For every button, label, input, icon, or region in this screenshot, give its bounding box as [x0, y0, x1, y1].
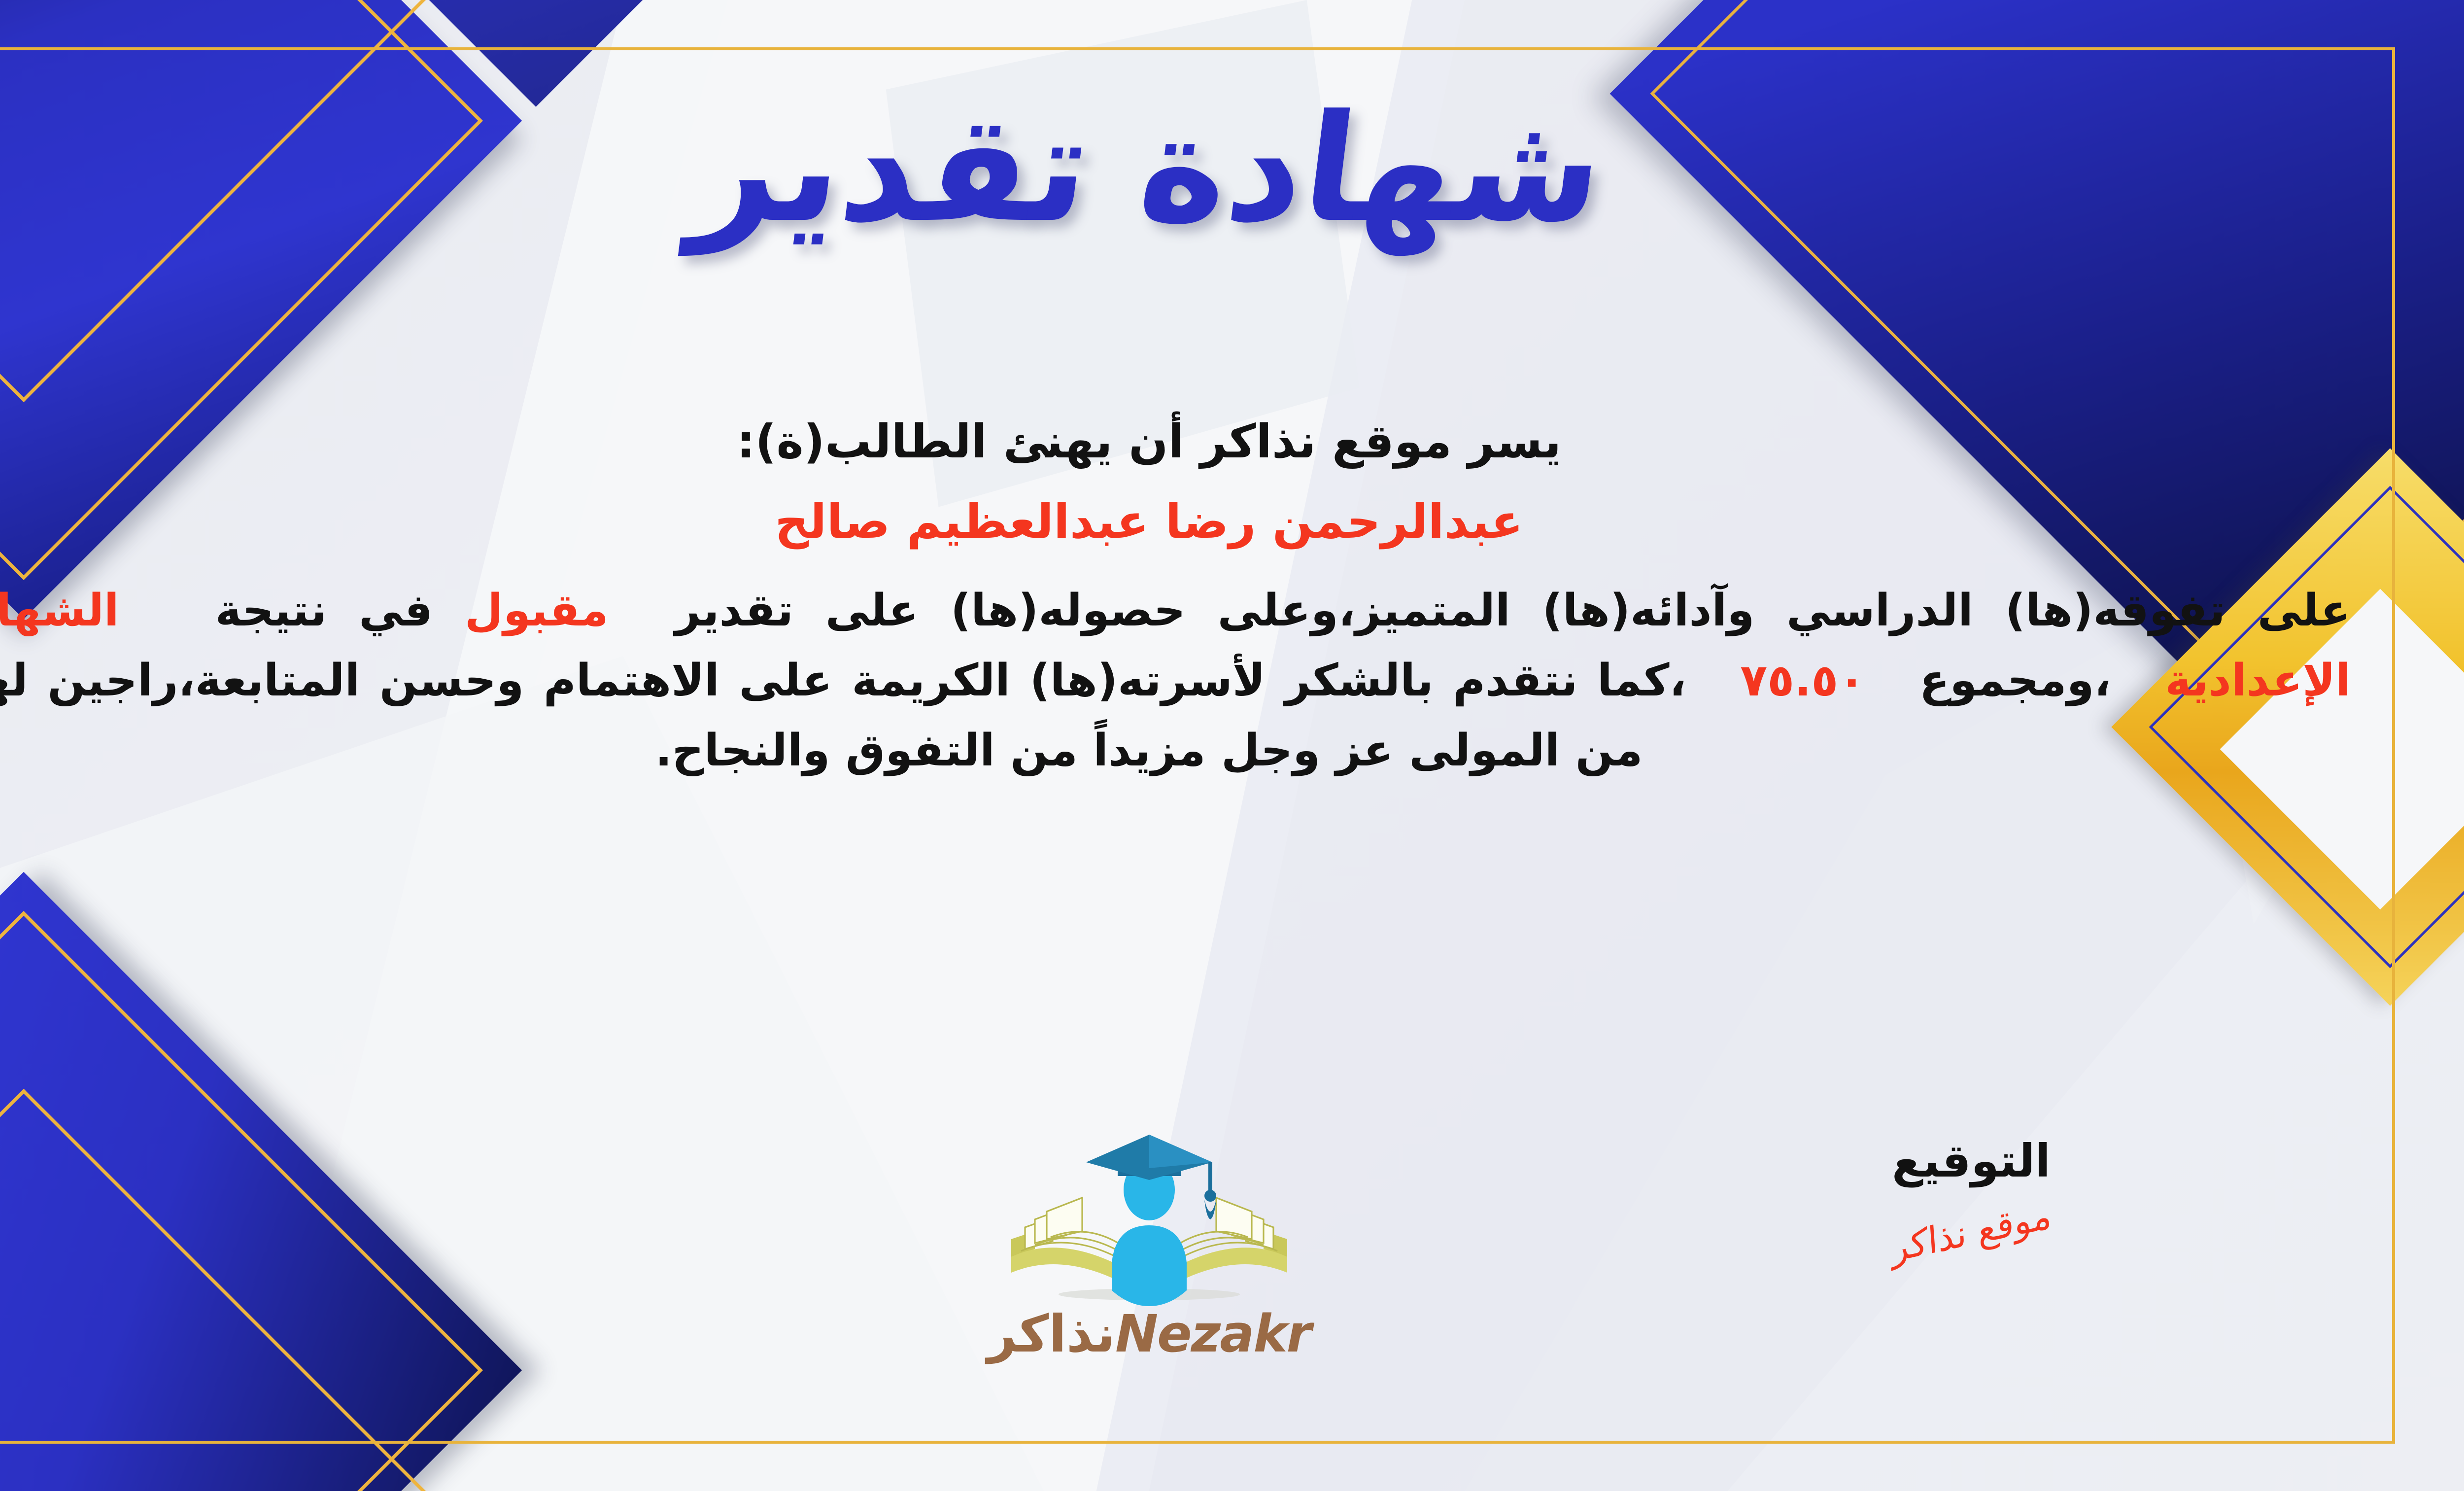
graduate-book-icon: [992, 1129, 1307, 1306]
logo-name-arabic: نذاكر: [987, 1304, 1115, 1364]
brand-logo: Nezakrنذاكر: [0, 1129, 2464, 1359]
intro-line: يسر موقع نذاكر أن يهنئ الطالب(ة):: [0, 409, 2351, 475]
page-title: شهادة تقدير: [684, 84, 1613, 254]
citation-paragraph: على تفوقه(ها) الدراسي وآدائه(ها) المتميز…: [0, 576, 2351, 786]
logo-wordmark: Nezakrنذاكر: [0, 1308, 2464, 1359]
citation-segment-3: ،ومجموع: [1919, 655, 2111, 706]
citation-segment-6: مزيداً من التفوق والنجاح.: [655, 725, 1205, 776]
citation-segment-1: على تفوقه(ها) الدراسي وآدائه(ها) المتميز…: [675, 585, 2351, 636]
certificate-body: يسر موقع نذاكر أن يهنئ الطالب(ة): عبدالر…: [0, 409, 2351, 786]
certificate-title-area: شهادة تقدير: [0, 84, 2464, 254]
student-name: عبدالرحمن رضا عبدالعظيم صالح: [0, 488, 2351, 555]
citation-segment-4: ،كما نتقدم بالشكر لأسرته(ها): [1030, 655, 1686, 706]
grade-value: مقبول: [465, 585, 609, 636]
logo-name-latin: Nezakr: [1115, 1304, 1311, 1364]
total-score: ٧٥.٥٠: [1740, 655, 1865, 706]
certificate-canvas: شهادة تقدير يسر موقع نذاكر أن يهنئ الطال…: [0, 0, 2464, 1491]
citation-segment-2: في نتيجة: [215, 585, 433, 636]
